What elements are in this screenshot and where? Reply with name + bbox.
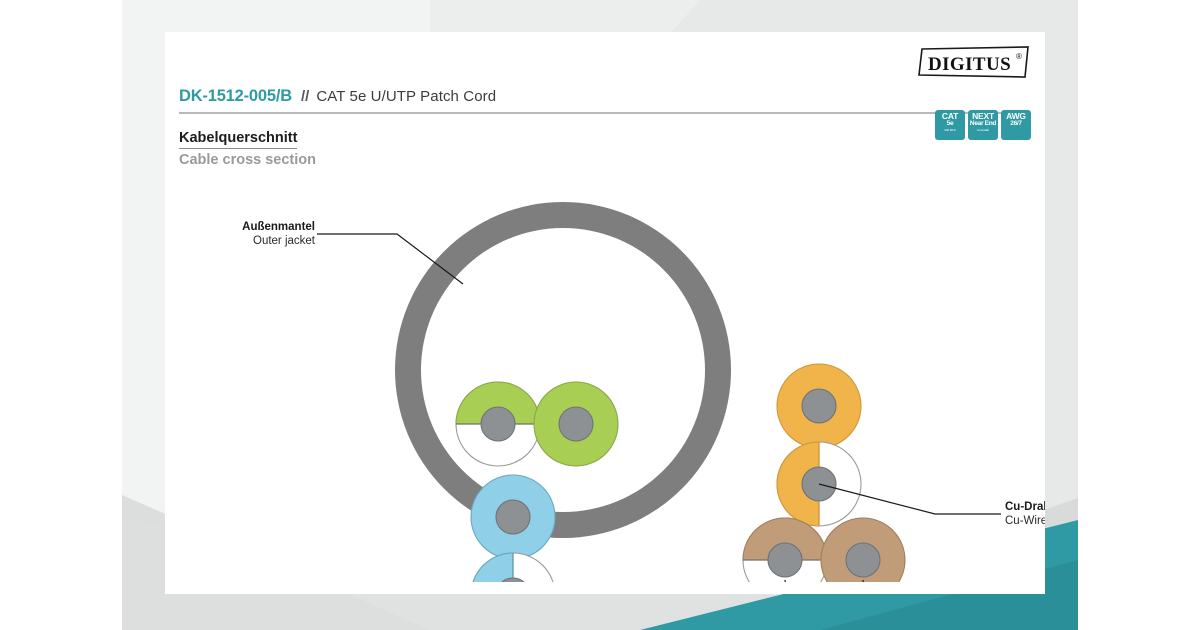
badge-next-sub: Near End [970, 121, 996, 128]
header-separator: // [301, 88, 309, 105]
product-name: CAT 5e U/UTP Patch Cord [316, 88, 496, 105]
logo-trademark-icon: ® [1016, 52, 1022, 61]
callout-twisted-pair: Adernpaare Twisted pair [785, 580, 1035, 582]
badge-next-tiny: Crosstalk [977, 129, 989, 133]
wire-green-striped [456, 382, 540, 466]
callout-cu-wire-label-en: Cu-Wire [1005, 515, 1045, 527]
digitus-logo: DIGITUS ® [917, 46, 1031, 80]
cable-cross-section-diagram: Außenmantel Outer jacket Cu-Draht Cu-Wir… [165, 162, 1045, 582]
wire-brown-striped [743, 518, 827, 582]
header-divider [179, 112, 1031, 114]
wire-orange-solid [777, 364, 861, 448]
twisted-pair-brown [743, 518, 905, 582]
twisted-pair-orange [777, 364, 861, 526]
product-header: DK-1512-005/B // CAT 5e U/UTP Patch Cord [179, 87, 496, 106]
twisted-pair-blue [471, 475, 555, 582]
section-title-de: Kabelquerschnitt [179, 130, 297, 149]
badge-cat: CAT 5e 100 MHz [935, 110, 965, 140]
wire-blue-solid [471, 475, 555, 559]
callout-cu-wire-label-de: Cu-Draht [1005, 501, 1045, 513]
wire-blue-striped [471, 553, 555, 582]
screenshot-root: DK-1512-005/B // CAT 5e U/UTP Patch Cord… [0, 0, 1200, 630]
badge-cat-sub: 5e [947, 121, 954, 128]
badge-awg-sub: 26/7 [1010, 121, 1021, 128]
outer-jacket [395, 202, 731, 538]
content-card: DK-1512-005/B // CAT 5e U/UTP Patch Cord… [165, 32, 1045, 594]
wire-brown-solid [821, 518, 905, 582]
article-number: DK-1512-005/B [179, 87, 292, 106]
certification-badges: CAT 5e 100 MHz NEXT Near End Crosstalk A… [935, 110, 1031, 140]
badge-awg: AWG 26/7 [1001, 110, 1031, 140]
badge-next: NEXT Near End Crosstalk [968, 110, 998, 140]
logo-text: DIGITUS [928, 54, 1011, 75]
callout-outer-jacket-label-de: Außenmantel [242, 221, 315, 233]
wire-green-solid [534, 382, 618, 466]
callout-outer-jacket-label-en: Outer jacket [253, 235, 316, 247]
badge-cat-tiny: 100 MHz [944, 129, 956, 133]
